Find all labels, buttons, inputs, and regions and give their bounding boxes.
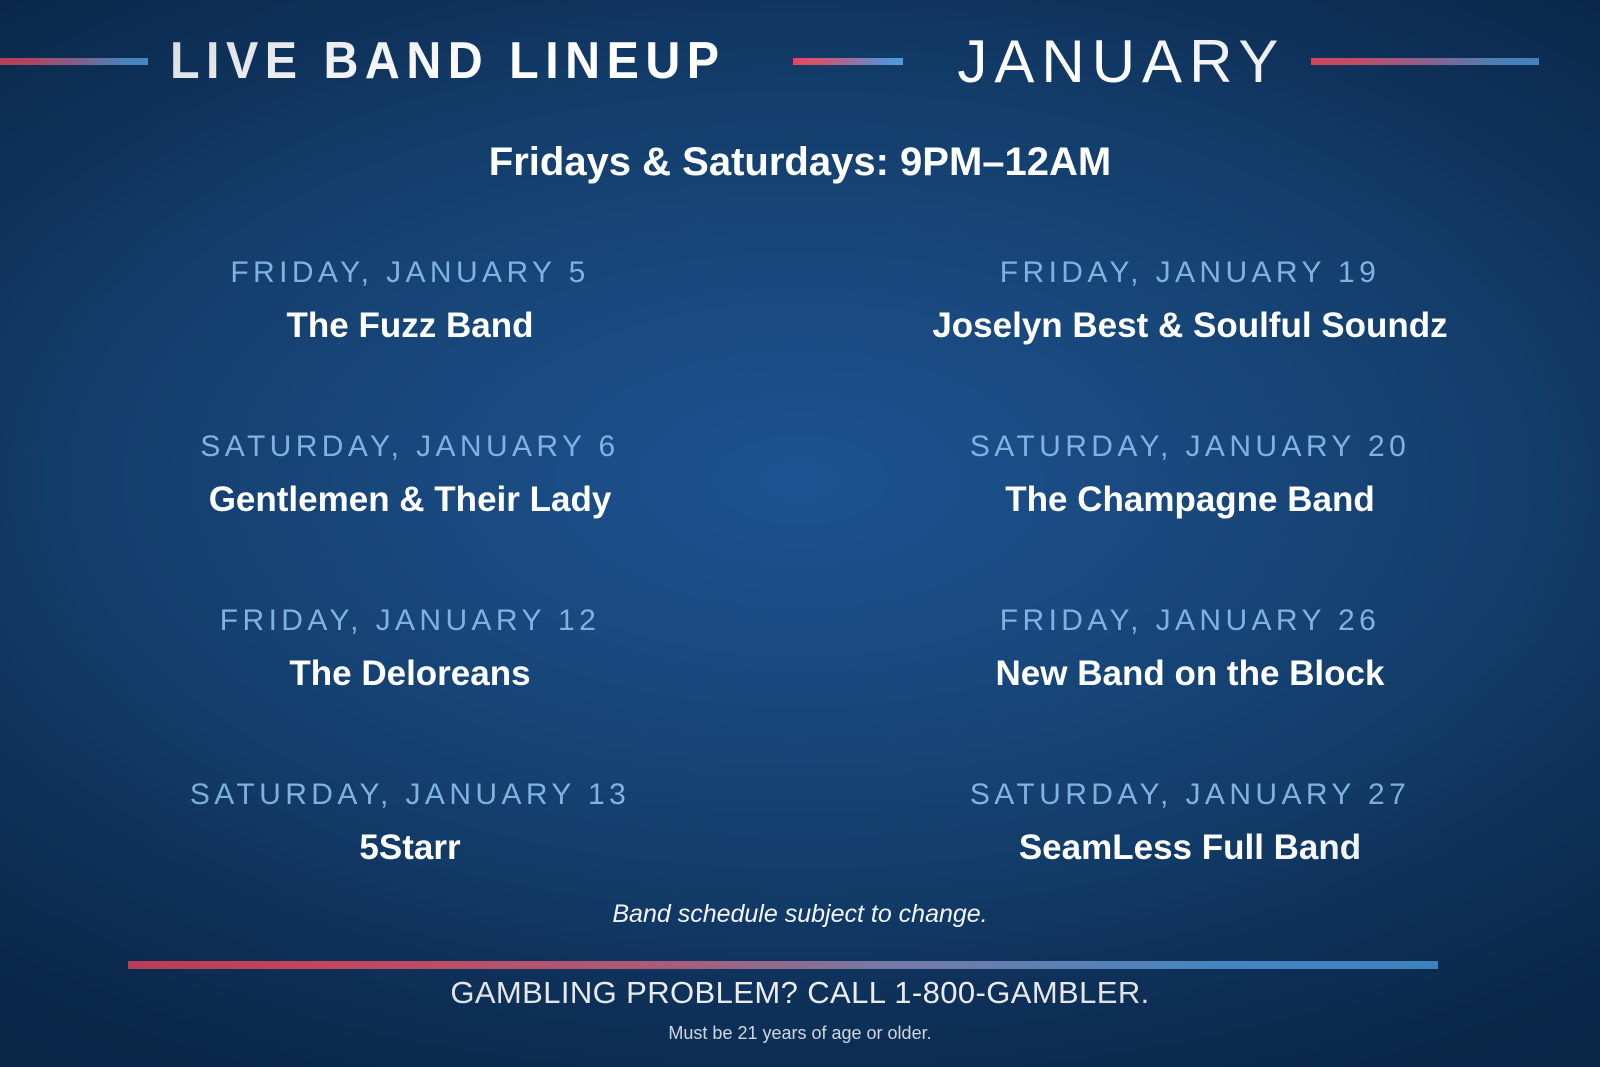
slot-date: FRIDAY, JANUARY 19: [840, 258, 1540, 288]
slot-date: SATURDAY, JANUARY 27: [840, 780, 1540, 810]
slot-band: New Band on the Block: [840, 656, 1540, 693]
age-restriction-notice: Must be 21 years of age or older.: [0, 1023, 1600, 1044]
footer-divider: [128, 961, 1438, 969]
slot-band: Joselyn Best & Soulful Soundz: [840, 308, 1540, 345]
schedule-slot: SATURDAY, JANUARY 20 The Champagne Band: [840, 432, 1540, 606]
schedule-grid: FRIDAY, JANUARY 5 The Fuzz Band FRIDAY, …: [60, 258, 1540, 954]
header-rule-middle: [793, 58, 903, 65]
schedule-slot: SATURDAY, JANUARY 6 Gentlemen & Their La…: [60, 432, 760, 606]
month-title: JANUARY: [957, 27, 1285, 96]
slot-date: FRIDAY, JANUARY 12: [60, 606, 760, 636]
slot-band: Gentlemen & Their Lady: [60, 482, 760, 519]
schedule-slot: FRIDAY, JANUARY 5 The Fuzz Band: [60, 258, 760, 432]
slot-date: FRIDAY, JANUARY 26: [840, 606, 1540, 636]
page-title: LIVE BAND LINEUP: [170, 31, 726, 91]
slot-date: SATURDAY, JANUARY 13: [60, 780, 760, 810]
footer: GAMBLING PROBLEM? CALL 1-800-GAMBLER. Mu…: [0, 975, 1600, 1044]
slot-band: The Fuzz Band: [60, 308, 760, 345]
slot-band: The Champagne Band: [840, 482, 1540, 519]
schedule-subtitle: Fridays & Saturdays: 9PM–12AM: [0, 140, 1600, 185]
schedule-slot: FRIDAY, JANUARY 26 New Band on the Block: [840, 606, 1540, 780]
header: LIVE BAND LINEUP JANUARY: [0, 0, 1600, 122]
responsible-gaming-notice: GAMBLING PROBLEM? CALL 1-800-GAMBLER.: [0, 975, 1600, 1011]
schedule-slot: FRIDAY, JANUARY 19 Joselyn Best & Soulfu…: [840, 258, 1540, 432]
slot-date: FRIDAY, JANUARY 5: [60, 258, 760, 288]
header-rule-left: [0, 58, 148, 65]
poster-root: LIVE BAND LINEUP JANUARY Fridays & Satur…: [0, 0, 1600, 1067]
slot-date: SATURDAY, JANUARY 6: [60, 432, 760, 462]
header-rule-right: [1311, 58, 1539, 65]
slot-date: SATURDAY, JANUARY 20: [840, 432, 1540, 462]
slot-band: The Deloreans: [60, 656, 760, 693]
slot-band: SeamLess Full Band: [840, 830, 1540, 867]
slot-band: 5Starr: [60, 830, 760, 867]
schedule-disclaimer: Band schedule subject to change.: [0, 900, 1600, 929]
schedule-slot: FRIDAY, JANUARY 12 The Deloreans: [60, 606, 760, 780]
